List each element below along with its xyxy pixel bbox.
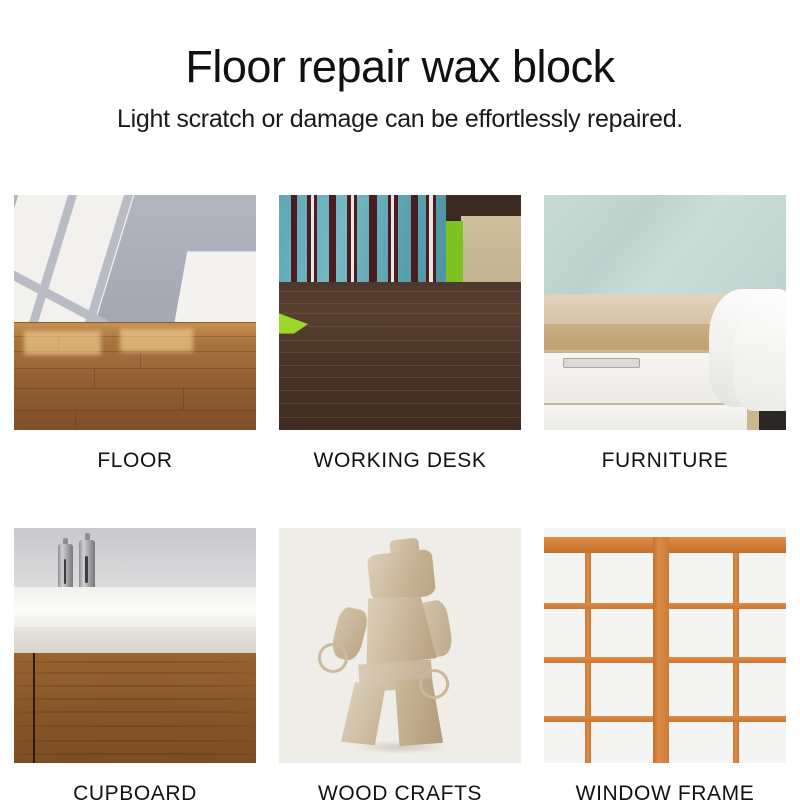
grid-item-window-frame[interactable]: WINDOW FRAME [544,528,786,804]
floor-image [14,195,256,430]
grid-item-working-desk[interactable]: WORKING DESK [279,195,521,471]
caption-working-desk: WORKING DESK [279,450,521,471]
sunlight-patch-right [174,251,256,326]
caption-window-frame: WINDOW FRAME [544,783,786,804]
header: Floor repair wax block Light scratch or … [0,0,800,132]
grid-item-cupboard[interactable]: CUPBOARD [14,528,256,804]
use-case-grid: FLOOR [14,195,786,804]
beige-panel [461,216,522,287]
figure-head [366,548,436,602]
window-center-mullion [653,537,669,763]
countertop-edge [14,627,256,653]
cabinet-wood-panel [14,653,256,763]
page-title: Floor repair wax block [0,44,800,89]
wall-strip [544,528,786,537]
countertop-surface [14,587,256,632]
desk-surface [279,282,521,430]
caption-wood-crafts: WOOD CRAFTS [279,783,521,804]
caption-cupboard: CUPBOARD [14,783,256,804]
drawer-handle [563,358,640,368]
grid-item-furniture[interactable]: FURNITURE [544,195,786,471]
window-frame-image [544,528,786,763]
window-vertical-bar [733,537,739,763]
wood-crafts-image [279,528,521,763]
mint-wall [544,195,786,298]
floor-sun-reflection [24,331,101,355]
furniture-image [544,195,786,430]
grid-item-wood-crafts[interactable]: WOOD CRAFTS [279,528,521,804]
pillow-secondary [733,317,786,411]
working-desk-image [279,195,521,430]
grid-item-floor[interactable]: FLOOR [14,195,256,471]
striped-fabric [279,195,446,287]
caption-floor: FLOOR [14,450,256,471]
page-subtitle: Light scratch or damage can be effortles… [0,107,800,132]
floor-sun-reflection [120,329,193,353]
dark-top-bar [439,195,521,219]
window-vertical-bar [585,537,591,763]
cabinet-door-seam [33,653,35,763]
drawer-lower [544,404,747,430]
cupboard-image [14,528,256,763]
caption-furniture: FURNITURE [544,450,786,471]
kitchen-wall [14,528,256,591]
product-infographic-page: Floor repair wax block Light scratch or … [0,0,800,800]
